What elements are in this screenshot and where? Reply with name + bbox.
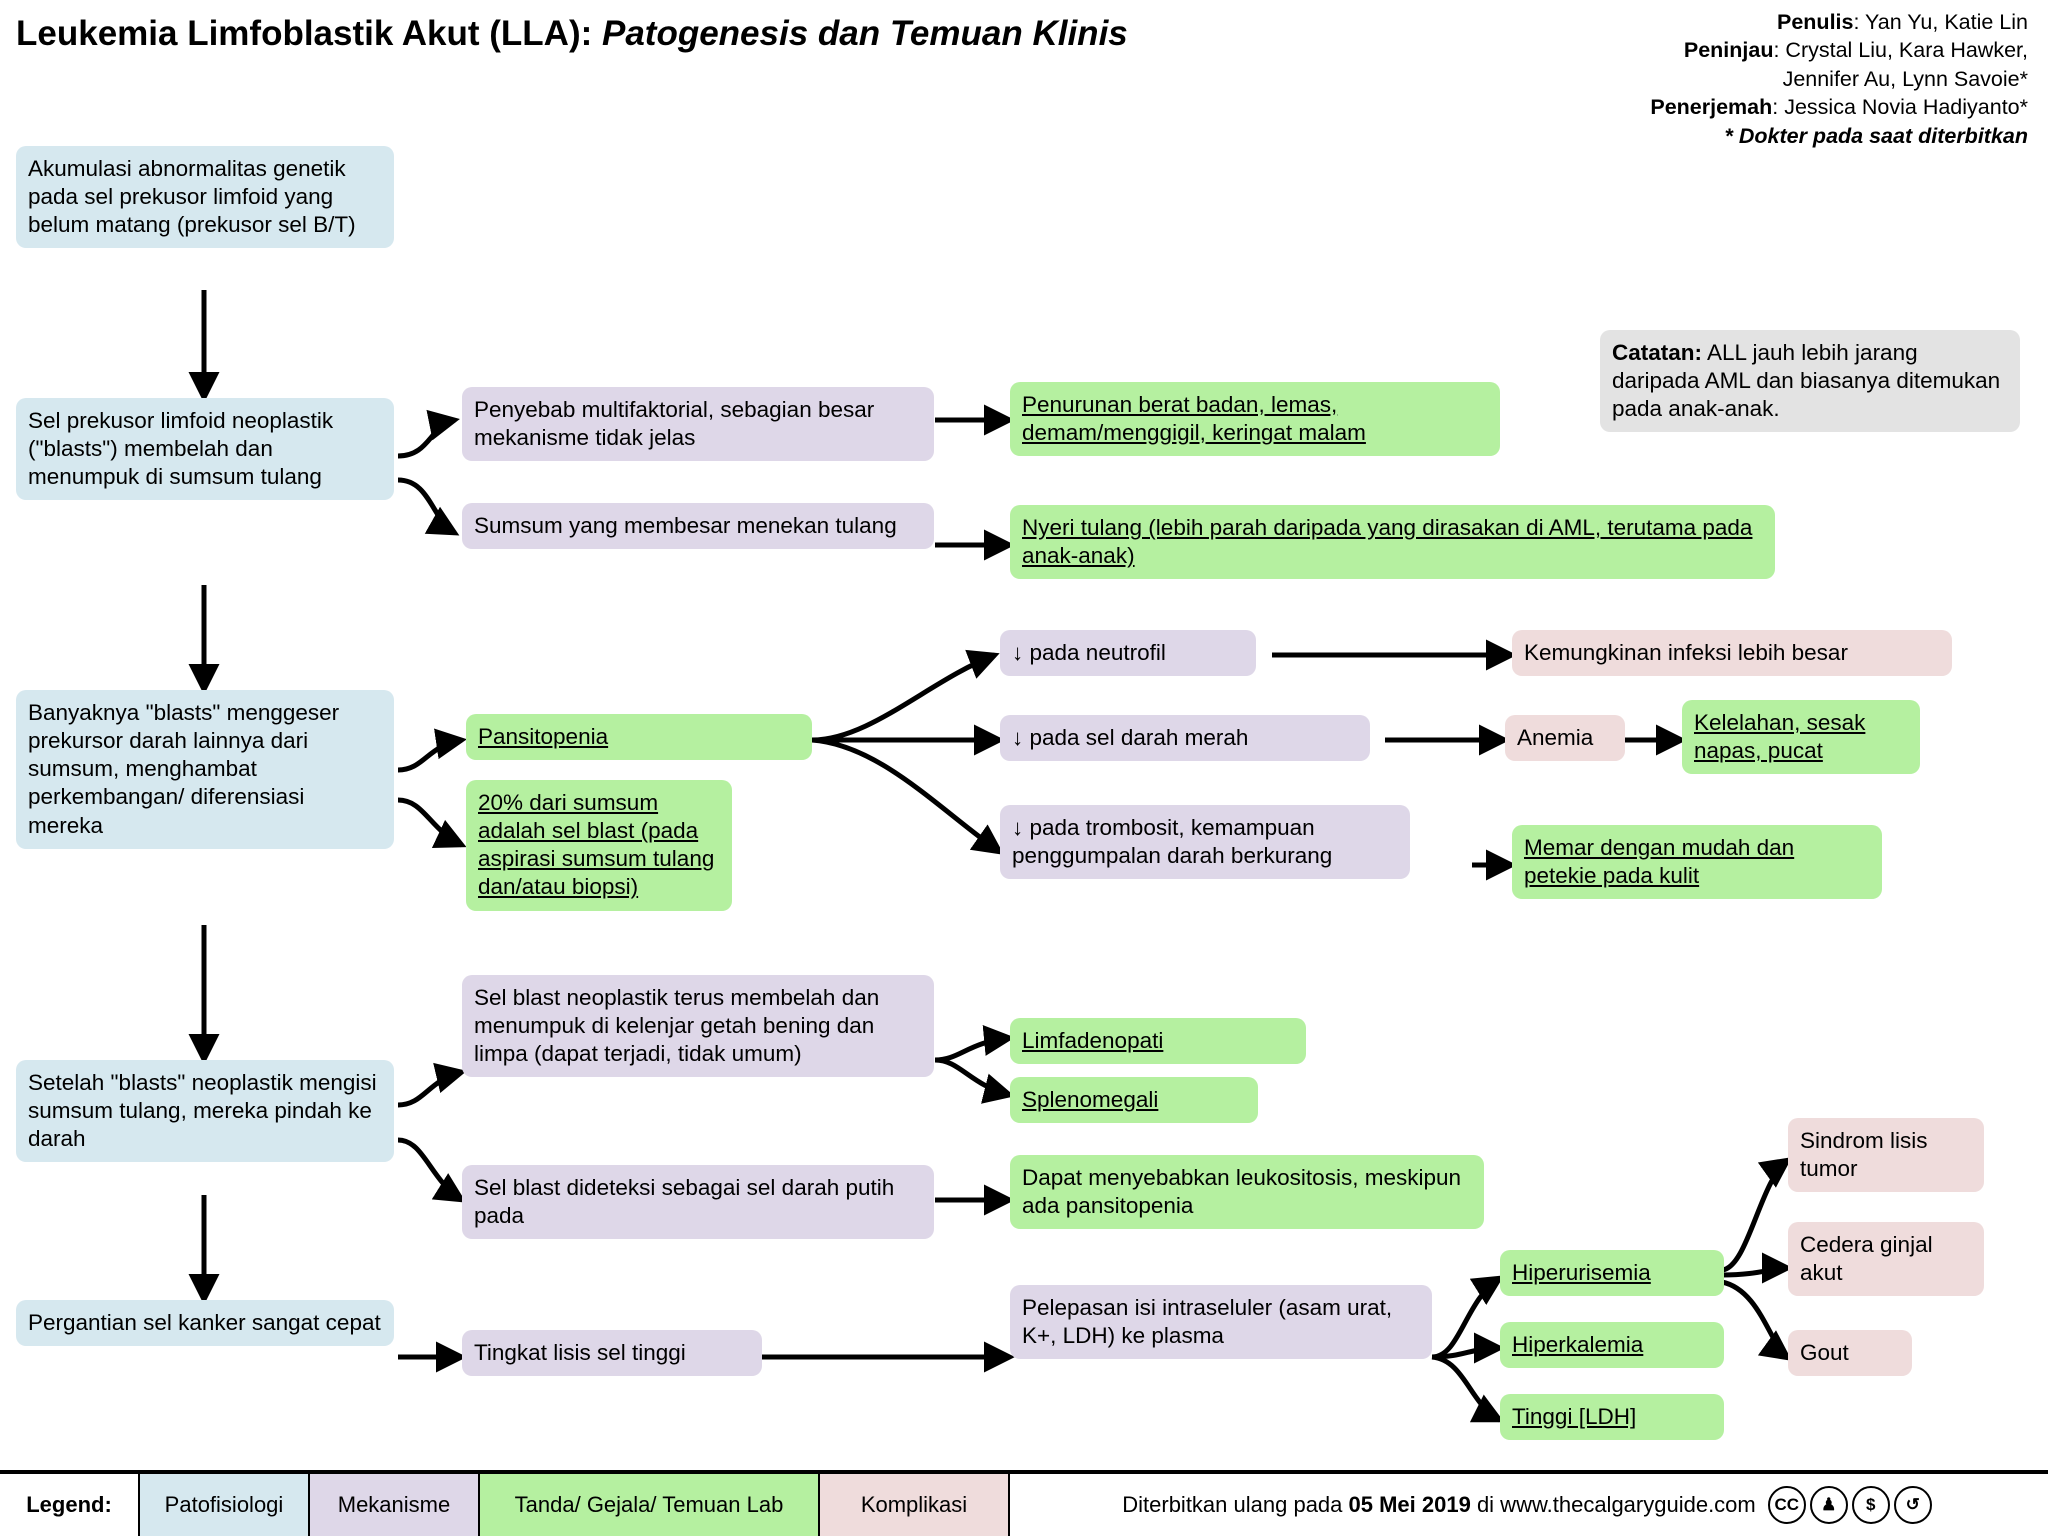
legend-label: Legend: [0,1474,140,1536]
node-infection-risk: Kemungkinan infeksi lebih besar [1512,630,1952,676]
node-bone-pain: Nyeri tulang (lebih parah daripada yang … [1010,505,1775,579]
node-tumor-lysis-syndrome: Sindrom lisis tumor [1788,1118,1984,1192]
node-genetic-accumulation: Akumulasi abnormalitas genetik pada sel … [16,146,394,248]
page-title-main: Leukemia Limfoblastik Akut (LLA): [16,14,602,53]
node-leukocytosis: Dapat menyebabkan leukositosis, meskipun… [1010,1155,1484,1229]
note-box: Catatan: ALL jauh lebih jarang daripada … [1600,330,2020,432]
legend-bar: Legend: Patofisiologi Mekanisme Tanda/ G… [0,1470,2048,1536]
credits-reviewers-label: Peninjau [1684,38,1774,62]
diagram-canvas: Leukemia Limfoblastik Akut (LLA): Patoge… [0,0,2048,1536]
node-low-platelets: ↓ pada trombosit, kemampuan penggumpalan… [1000,805,1410,879]
note-label: Catatan: [1612,340,1702,365]
legend-publication-text: Diterbitkan ulang pada 05 Mei 2019 di ww… [1122,1492,1756,1518]
legend-published-prefix: Diterbitkan ulang pada [1122,1492,1348,1517]
node-splenomegaly: Splenomegali [1010,1077,1258,1123]
legend-publication: Diterbitkan ulang pada 05 Mei 2019 di ww… [1010,1474,2048,1536]
cc-main-label: CC [1774,1495,1799,1515]
legend-published-date: 05 Mei 2019 [1349,1492,1471,1517]
credits-reviewers: Peninjau: Crystal Liu, Kara Hawker, [1650,36,2028,64]
node-multifactorial-cause: Penyebab multifaktorial, sebagian besar … [462,387,934,461]
creative-commons-icon[interactable]: CC ♟ $ ↺ [1768,1486,1936,1524]
legend-item-signs: Tanda/ Gejala/ Temuan Lab [480,1474,820,1536]
legend-item-pathophysiology-label: Patofisiologi [165,1492,284,1518]
node-bruising-petechiae: Memar dengan mudah dan petekie pada kuli… [1512,825,1882,899]
node-intracellular-release: Pelepasan isi intraseluler (asam urat, K… [1010,1285,1432,1359]
legend-item-complications-label: Komplikasi [861,1492,967,1518]
credits-reviewers-line2: Jennifer Au, Lynn Savoie* [1650,65,2028,93]
node-blasts-as-wbc: Sel blast dideteksi sebagai sel darah pu… [462,1165,934,1239]
node-pancytopenia: Pansitopenia [466,714,812,760]
node-20pct-blasts: 20% dari sumsum adalah sel blast (pada a… [466,780,732,911]
node-high-cell-turnover: Pergantian sel kanker sangat cepat [16,1300,394,1346]
credits-reviewers-names: : Crystal Liu, Kara Hawker, [1773,38,2028,62]
node-high-ldh: Tinggi [LDH] [1500,1394,1724,1440]
legend-item-mechanism: Mekanisme [310,1474,480,1536]
legend-published-suffix: di www.thecalgaryguide.com [1471,1492,1756,1517]
credits-authors: Penulis: Yan Yu, Katie Lin [1650,8,2028,36]
node-gout: Gout [1788,1330,1912,1376]
credits-footnote: * Dokter pada saat diterbitkan [1650,122,2028,150]
node-constitutional-symptoms: Penurunan berat badan, lemas, demam/meng… [1010,382,1500,456]
node-lymphadenopathy: Limfadenopati [1010,1018,1306,1064]
legend-item-signs-label: Tanda/ Gejala/ Temuan Lab [515,1492,784,1518]
node-high-lysis-rate: Tingkat lisis sel tinggi [462,1330,762,1376]
credits-translator-label: Penerjemah [1650,95,1772,119]
credits-translator: Penerjemah: Jessica Novia Hadiyanto* [1650,93,2028,121]
node-blasts-enter-blood: Setelah "blasts" neoplastik mengisi sums… [16,1060,394,1162]
page-title: Leukemia Limfoblastik Akut (LLA): Patoge… [16,14,1128,54]
cc-by-icon: ♟ [1810,1486,1848,1524]
credits-authors-label: Penulis [1777,10,1853,34]
node-fatigue-dyspnea-pallor: Kelelahan, sesak napas, pucat [1682,700,1920,774]
legend-item-pathophysiology: Patofisiologi [140,1474,310,1536]
node-low-rbc: ↓ pada sel darah merah [1000,715,1370,761]
page-title-subtitle: Patogenesis dan Temuan Klinis [602,14,1128,53]
node-low-neutrophils: ↓ pada neutrofil [1000,630,1256,676]
legend-item-complications: Komplikasi [820,1474,1010,1536]
node-blasts-crowd-marrow: Banyaknya "blasts" menggeser prekursor d… [16,690,394,849]
legend-item-mechanism-label: Mekanisme [338,1492,450,1518]
node-hyperuricemia: Hiperurisemia [1500,1250,1724,1296]
node-anemia: Anemia [1505,715,1625,761]
node-acute-kidney-injury: Cedera ginjal akut [1788,1222,1984,1296]
node-hyperkalemia: Hiperkalemia [1500,1322,1724,1368]
credits-authors-names: : Yan Yu, Katie Lin [1853,10,2028,34]
cc-nc-icon: $ [1852,1486,1890,1524]
credits-translator-name: : Jessica Novia Hadiyanto* [1772,95,2028,119]
credits-block: Penulis: Yan Yu, Katie Lin Peninjau: Cry… [1650,8,2028,150]
node-marrow-expansion-pressure: Sumsum yang membesar menekan tulang [462,503,934,549]
node-neoplastic-blasts-marrow: Sel prekusor limfoid neoplastik ("blasts… [16,398,394,500]
node-blasts-lymph-spleen: Sel blast neoplastik terus membelah dan … [462,975,934,1077]
cc-sa-icon: ↺ [1894,1486,1932,1524]
cc-logo-icon: CC [1768,1486,1806,1524]
